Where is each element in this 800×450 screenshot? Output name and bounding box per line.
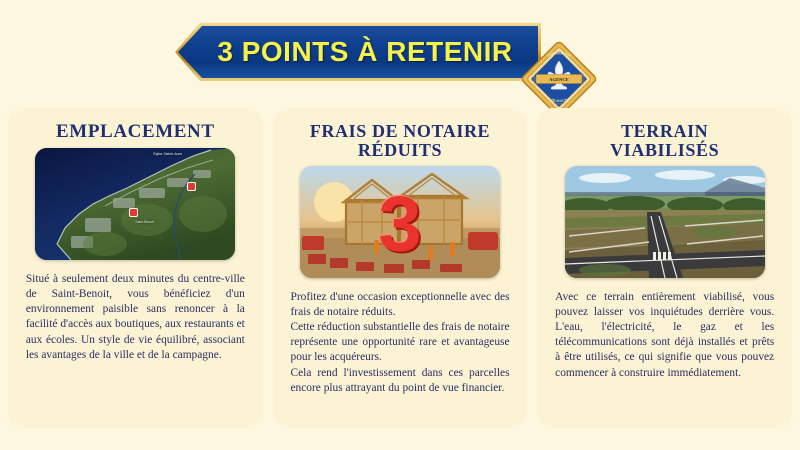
map-marker-secondary xyxy=(187,182,196,191)
card-body-frais-de-notaire: Profitez d'une occasion exceptionnelle a… xyxy=(291,290,510,396)
card-frais-de-notaire: FRAIS DE NOTAIRE RÉDUITS xyxy=(273,108,528,428)
construction-image: 3 xyxy=(300,166,500,278)
image-number-overlay: 3 xyxy=(378,184,421,262)
card-terrain-viabilises: TERRAIN VIABILISÉS xyxy=(537,108,792,428)
card-body-emplacement: Situé à seulement deux minutes du centre… xyxy=(26,272,245,363)
svg-text:AGENCE: AGENCE xyxy=(549,77,569,82)
card-title-line2: RÉDUITS xyxy=(358,140,442,160)
serviced-land-image xyxy=(565,166,765,278)
agency-logo-icon: AGENCE IMMOBILIER TRAVAUX xyxy=(520,40,598,118)
card-title-line1: TERRAIN xyxy=(621,121,708,141)
satellite-map-image: Église Sainte-Anne Saint-Benoît xyxy=(35,148,235,260)
card-body-terrain-viabilises: Avec ce terrain entièrement viabilisé, v… xyxy=(555,290,774,381)
map-label-north: Église Sainte-Anne xyxy=(153,152,182,156)
card-emplacement: EMPLACEMENT xyxy=(8,108,263,428)
card-title-emplacement: EMPLACEMENT xyxy=(16,122,255,142)
page-title: 3 POINTS À RETENIR xyxy=(200,26,530,78)
card-title-terrain-viabilises: TERRAIN VIABILISÉS xyxy=(545,122,784,160)
card-title-frais-de-notaire: FRAIS DE NOTAIRE RÉDUITS xyxy=(280,122,519,160)
card-title-line1: FRAIS DE NOTAIRE xyxy=(310,121,490,141)
map-label-center: Saint-Benoît xyxy=(135,220,154,224)
header-banner: 3 POINTS À RETENIR AGENCE IMM xyxy=(0,18,800,98)
map-marker-primary xyxy=(129,208,138,217)
cards-row: EMPLACEMENT xyxy=(0,108,800,428)
card-title-line2: VIABILISÉS xyxy=(610,140,719,160)
